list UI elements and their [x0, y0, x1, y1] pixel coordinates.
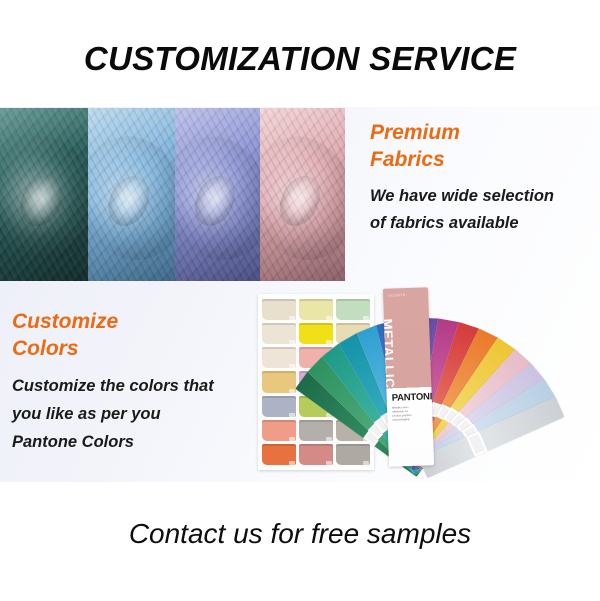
pantone-fan-deck: GG1507B METALLICS Solid Coated PANTONE® … [382, 286, 600, 482]
periwinkle-fabric-shading [175, 108, 260, 281]
chip-warm-gray [336, 444, 370, 465]
pantone-cover-code: GG1507B [388, 293, 405, 298]
customize-colors-heading: Customize Colors [12, 308, 214, 363]
page-title: CUSTOMIZATION SERVICE [0, 40, 600, 78]
chip-gold [262, 371, 296, 392]
customization-service-poster: CUSTOMIZATION SERVICE Premium Fabrics We… [0, 0, 600, 601]
dark-teal-fabric [0, 108, 88, 281]
pantone-fine-print: Metallic colors references for product g… [392, 405, 427, 422]
customize-colors-body: Customize the colors that you like as pe… [12, 372, 214, 457]
fabric-swatch-photo [0, 108, 345, 281]
chip-blue-gray [262, 396, 296, 417]
chip-mint [336, 299, 370, 320]
pantone-logo-text: PANTONE [392, 391, 435, 404]
chip-salmon [262, 420, 296, 441]
dark-teal-fabric-shading [0, 108, 88, 281]
chip-light-sand [262, 347, 296, 368]
premium-fabrics-block: Premium Fabrics We have wide selection o… [370, 120, 554, 238]
customize-colors-block: Customize Colors Customize the colors th… [12, 308, 214, 457]
pantone-deck-cover: GG1507B METALLICS Solid Coated PANTONE® … [383, 287, 434, 466]
dusty-pink-fabric-shading [260, 108, 345, 281]
chip-bright-yellow [299, 323, 333, 344]
periwinkle-fabric [175, 108, 260, 281]
premium-fabrics-heading: Premium Fabrics [370, 120, 554, 174]
footer-cta: Contact us for free samples [0, 518, 600, 550]
chip-beige [262, 323, 296, 344]
dusty-pink-fabric [260, 108, 345, 281]
light-blue-fabric [88, 108, 175, 281]
pantone-logo: PANTONE® [392, 391, 435, 404]
chip-cream [262, 299, 296, 320]
light-blue-fabric-shading [88, 108, 175, 281]
chip-gray [299, 420, 333, 441]
chip-burnt-orange [262, 444, 296, 465]
premium-fabrics-body: We have wide selection of fabrics availa… [370, 183, 554, 238]
chip-pale-yellow [299, 299, 333, 320]
chip-dusty-rose [299, 444, 333, 465]
